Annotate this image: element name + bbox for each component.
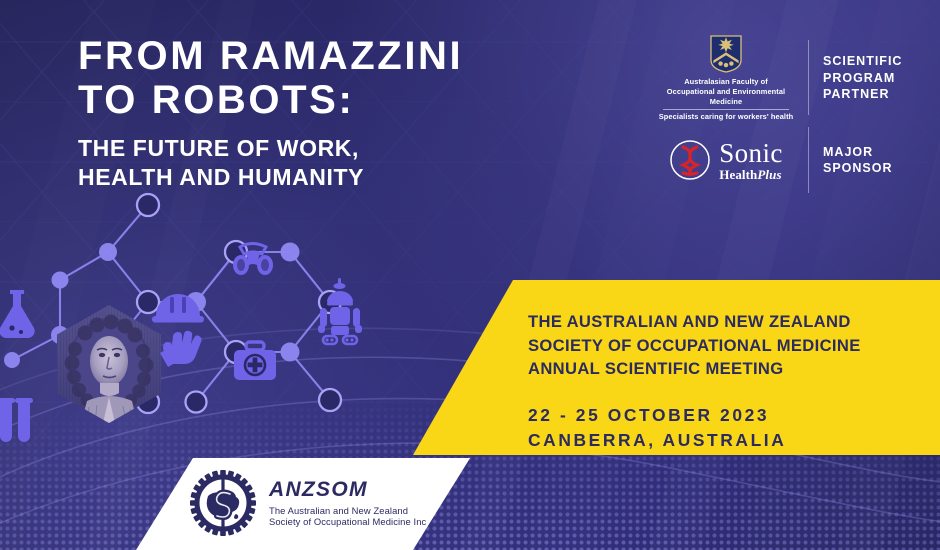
afoem-shield-icon [709,34,743,74]
sponsor-role-scientific-program-partner: SCIENTIFIC PROGRAM PARTNER [823,53,902,102]
anzsom-logo-lockup: ANZSOM The Australian and New Zealand So… [190,470,426,536]
afoem-tagline: Specialists caring for workers' health [650,112,802,121]
event-details-text: THE AUSTRALIAN AND NEW ZEALAND SOCIETY O… [528,310,920,454]
sonic-healthplus-logo: Sonic HealthPlus [650,139,802,181]
sonic-plus: Plus [757,167,781,182]
sponsor-divider-sonic [808,127,809,193]
anzsom-gear-icon [190,470,256,536]
title-line-1: FROM RAMAZZINI [78,34,463,78]
sonic-health: Health [719,167,757,182]
afoem-org-line-1: Australasian Faculty of [650,77,802,87]
afoem-crest-logo: Australasian Faculty of Occupational and… [650,34,802,121]
afoem-divider-rule [663,109,789,110]
sponsor-rail: Australasian Faculty of Occupational and… [650,34,912,199]
banner-title-block: FROM RAMAZZINI TO ROBOTS: THE FUTURE OF … [78,34,548,192]
anzsom-acronym: ANZSOM [269,478,426,502]
sponsor-role-major-sponsor: MAJOR SPONSOR [823,144,893,177]
sponsor-row-sonic: Sonic HealthPlus MAJOR SPONSOR [650,121,912,199]
org-line-1: THE AUSTRALIAN AND NEW ZEALAND [528,310,920,334]
conference-banner: FROM RAMAZZINI TO ROBOTS: THE FUTURE OF … [0,0,940,550]
page-title: FROM RAMAZZINI TO ROBOTS: [78,34,548,122]
anzsom-tagline-line-2: Society of Occupational Medicine Inc [269,517,426,528]
sonic-wordmark: Sonic HealthPlus [719,140,783,181]
page-subtitle: THE FUTURE OF WORK, HEALTH AND HUMANITY [78,134,548,192]
afoem-org-line-2: Occupational and Environmental Medicine [650,87,802,107]
sonic-word-bottom: HealthPlus [719,168,783,181]
subtitle-line-1: THE FUTURE OF WORK, [78,135,359,161]
role-line-1: MAJOR [823,144,893,160]
role-line-2: PROGRAM [823,70,902,86]
sonic-word-top: Sonic [719,140,783,167]
role-line-2: SPONSOR [823,160,893,176]
sponsor-divider-afoem [808,40,809,115]
subtitle-line-2: HEALTH AND HUMANITY [78,163,548,192]
anzsom-wordmark: ANZSOM The Australian and New Zealand So… [269,478,426,527]
org-line-2: SOCIETY OF OCCUPATIONAL MEDICINE [528,334,920,358]
role-line-3: PARTNER [823,86,902,102]
afoem-wordmark: Australasian Faculty of Occupational and… [650,77,802,121]
event-location: CANBERRA, AUSTRALIA [528,428,920,453]
event-organisation-name: THE AUSTRALIAN AND NEW ZEALAND SOCIETY O… [528,310,920,381]
title-line-2: TO ROBOTS: [78,78,548,122]
anzsom-tagline: The Australian and New Zealand Society o… [269,506,426,528]
event-date-location: 22 - 25 OCTOBER 2023 CANBERRA, AUSTRALIA [528,403,920,454]
org-line-3: ANNUAL SCIENTIFIC MEETING [528,357,920,381]
event-dates: 22 - 25 OCTOBER 2023 [528,403,920,428]
role-line-1: SCIENTIFIC [823,53,902,69]
sonic-lockup: Sonic HealthPlus [669,139,783,181]
sonic-dna-icon [669,139,711,181]
sponsor-row-afoem: Australasian Faculty of Occupational and… [650,34,912,121]
